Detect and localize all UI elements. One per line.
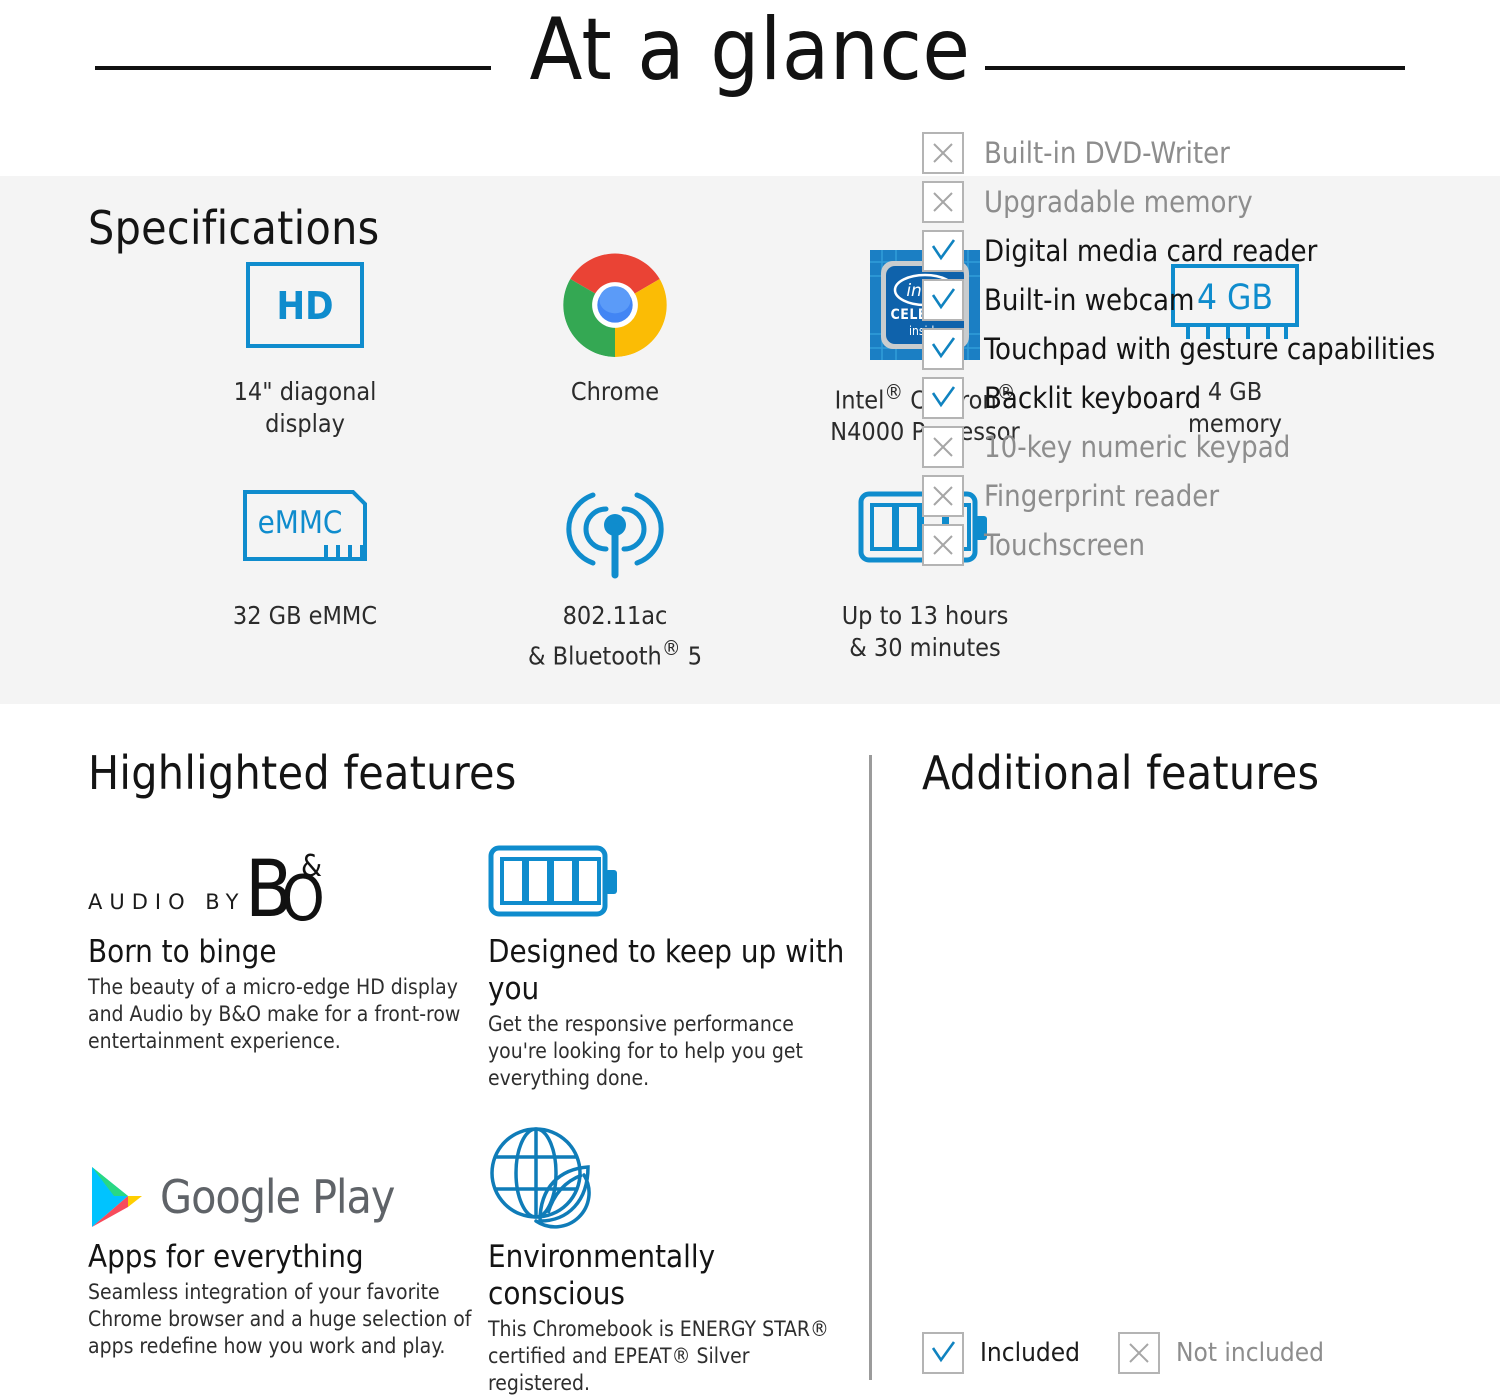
highlighted-feature-heading: Apps for everything (88, 1239, 488, 1276)
list-item-label: 10-key numeric keypad (984, 430, 1290, 464)
check-icon (922, 1332, 964, 1374)
highlighted-feature-heading: Designed to keep up with you (488, 934, 848, 1008)
additional-features-list: Built-in DVD-Writer Upgradable memory Di… (922, 128, 1435, 569)
x-icon (1118, 1332, 1160, 1374)
check-icon (922, 328, 964, 370)
x-icon (922, 524, 964, 566)
features-section: Highlighted features Additional features… (0, 704, 1500, 1394)
battery-icon (488, 819, 848, 924)
spec-label-display: 14" diagonaldisplay (234, 376, 377, 440)
highlighted-feature-environmentally-conscious: Environmentally conscious This Chromeboo… (488, 1124, 848, 1397)
check-icon (922, 377, 964, 419)
legend-included: Included (922, 1332, 1080, 1374)
list-item-label: Digital media card reader (984, 234, 1317, 268)
list-item[interactable]: Touchpad with gesture capabilities (922, 324, 1435, 373)
highlighted-features-title: Highlighted features (88, 746, 517, 800)
list-item[interactable]: Fingerprint reader (922, 471, 1435, 520)
list-item[interactable]: Backlit keyboard (922, 373, 1435, 422)
wifi-signal-icon (549, 470, 681, 588)
highlighted-feature-body: This Chromebook is ENERGY STAR® certifie… (488, 1316, 848, 1397)
spec-label-os: Chrome (571, 376, 659, 408)
spec-item-storage: eMMC 32 GB eMMC (150, 470, 460, 672)
svg-text:eMMC: eMMC (258, 505, 343, 541)
list-item[interactable]: Digital media card reader (922, 226, 1435, 275)
google-play-triangle-icon (88, 1165, 146, 1229)
page-title: At a glance (0, 0, 1500, 102)
highlighted-feature-born-to-binge: AUDIO BY B O & Born to binge The beauty … (88, 819, 488, 1092)
x-icon (922, 181, 964, 223)
spec-label-wireless: 802.11ac& Bluetooth® 5 (528, 600, 702, 672)
highlighted-feature-apps-for-everything: Google Play Apps for everything Seamless… (88, 1124, 488, 1397)
legend-included-label: Included (980, 1338, 1080, 1368)
additional-features-title: Additional features (922, 746, 1319, 800)
list-item[interactable]: 10-key numeric keypad (922, 422, 1435, 471)
list-item[interactable]: Upgradable memory (922, 177, 1435, 226)
x-icon (922, 475, 964, 517)
spec-item-wireless: 802.11ac& Bluetooth® 5 (460, 470, 770, 672)
highlighted-feature-body: The beauty of a micro-edge HD display an… (88, 974, 488, 1055)
bang-olufsen-mark-icon: B O & (245, 840, 337, 924)
spec-label-battery: Up to 13 hours& 30 minutes (842, 600, 1009, 664)
at-a-glance-page: At a glance Specifications HD 14" diagon… (0, 0, 1500, 1394)
spec-item-display: HD 14" diagonaldisplay (150, 246, 460, 448)
check-icon (922, 279, 964, 321)
google-play-logo: Google Play (88, 1124, 488, 1229)
features-vertical-divider (869, 755, 872, 1380)
list-item[interactable]: Touchscreen (922, 520, 1435, 569)
list-item-label: Fingerprint reader (984, 479, 1219, 513)
list-item-label: Built-in webcam (984, 283, 1194, 317)
highlighted-feature-designed-to-keep-up: Designed to keep up with you Get the res… (488, 819, 848, 1092)
check-icon (922, 230, 964, 272)
list-item[interactable]: Built-in webcam (922, 275, 1435, 324)
additional-features-legend: Included Not included (922, 1332, 1324, 1374)
spec-item-os: Chrome (460, 246, 770, 448)
chrome-logo-icon (563, 246, 667, 364)
highlighted-feature-heading: Born to binge (88, 934, 488, 971)
list-item-label: Backlit keyboard (984, 381, 1201, 415)
hd-display-icon: HD (246, 246, 364, 364)
svg-text:&: & (301, 849, 322, 884)
highlighted-feature-body: Seamless integration of your favorite Ch… (88, 1279, 488, 1360)
emmc-storage-icon: eMMC (240, 470, 370, 588)
highlighted-features-row-1: AUDIO BY B O & Born to binge The beauty … (88, 819, 848, 1092)
spec-label-storage: 32 GB eMMC (233, 600, 377, 632)
legend-not-included-label: Not included (1176, 1338, 1324, 1368)
globe-leaf-icon (488, 1124, 848, 1229)
list-item-label: Built-in DVD-Writer (984, 136, 1230, 170)
bang-olufsen-audio-by-text: AUDIO BY (88, 890, 245, 924)
bang-olufsen-logo: AUDIO BY B O & (88, 819, 488, 924)
legend-not-included: Not included (1118, 1332, 1324, 1374)
list-item-label: Touchpad with gesture capabilities (984, 332, 1435, 366)
highlighted-feature-body: Get the responsive performance you're lo… (488, 1011, 848, 1092)
google-play-wordmark: Google Play (160, 1170, 394, 1224)
highlighted-features-grid: AUDIO BY B O & Born to binge The beauty … (88, 819, 848, 1397)
list-item-label: Upgradable memory (984, 185, 1253, 219)
highlighted-features-row-2: Google Play Apps for everything Seamless… (88, 1124, 848, 1397)
svg-text:HD: HD (277, 284, 334, 328)
x-icon (922, 132, 964, 174)
x-icon (922, 426, 964, 468)
highlighted-feature-heading: Environmentally conscious (488, 1239, 848, 1313)
list-item[interactable]: Built-in DVD-Writer (922, 128, 1435, 177)
list-item-label: Touchscreen (984, 528, 1145, 562)
